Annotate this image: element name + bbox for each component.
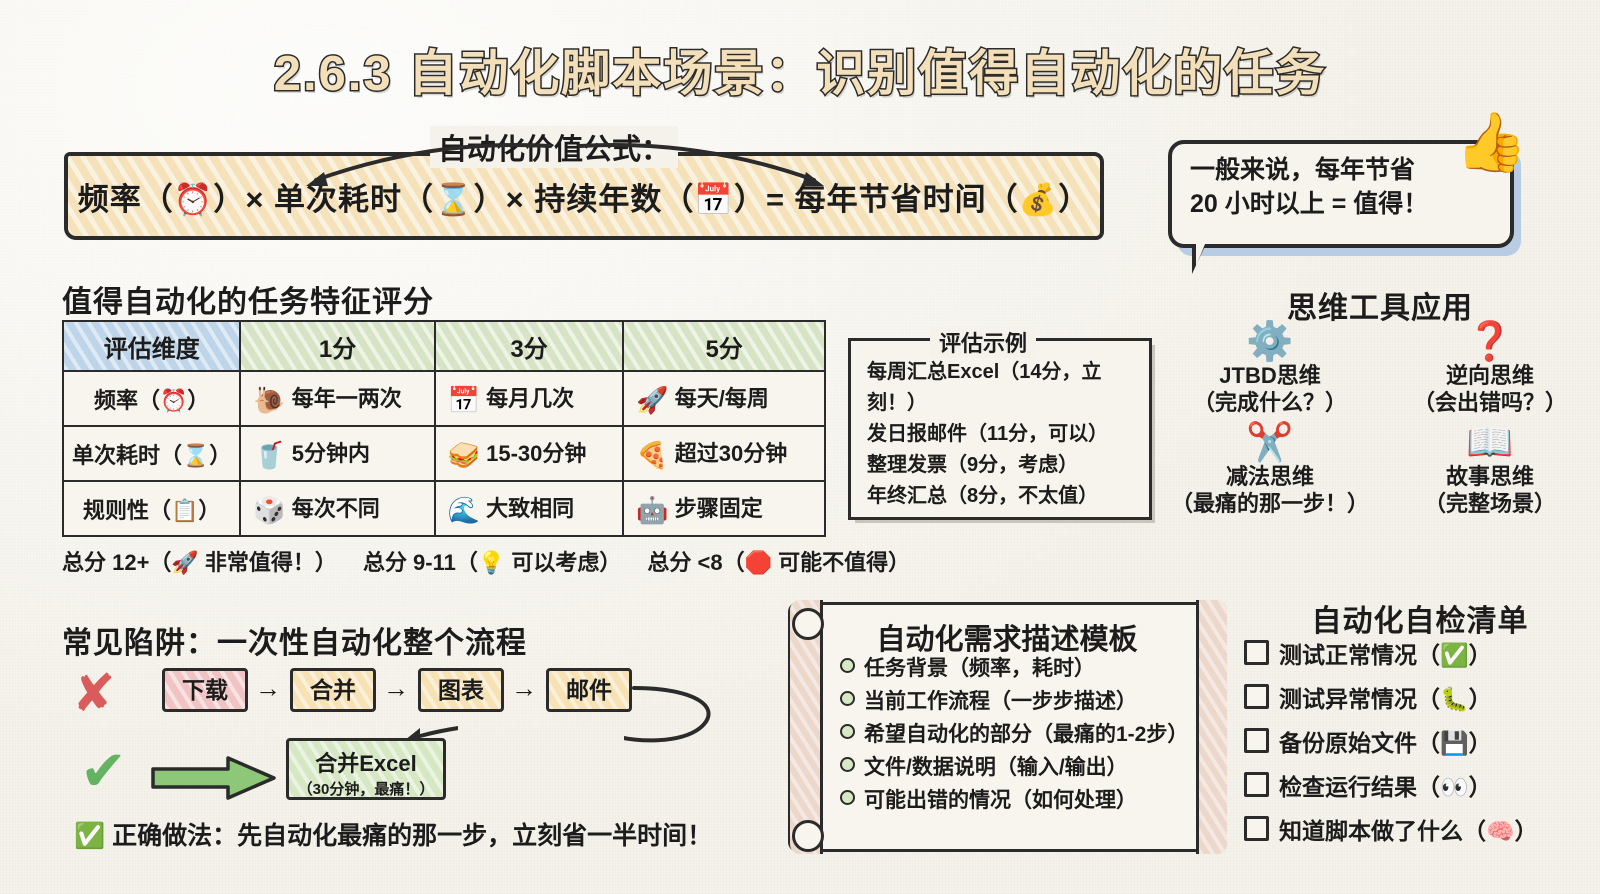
check-mark-icon: ✔ <box>80 738 127 804</box>
flow-arrow-icon: → <box>255 673 281 704</box>
checklist-item-label: 知道脚本做了什么（🧠） <box>1279 818 1538 844</box>
flow-step-merge: 合并 <box>290 668 376 712</box>
checklist-item[interactable]: 知道脚本做了什么（🧠） <box>1244 816 1600 843</box>
col-header-dimension: 评估维度 <box>63 321 240 371</box>
cell-regularity-3: 🌊大致相同 <box>435 481 624 536</box>
open-book-icon: 📖 <box>1380 423 1600 463</box>
cell-duration-3: 🥪15-30分钟 <box>435 426 624 481</box>
tool-sub: （会出错吗？） <box>1380 389 1600 417</box>
tool-name: 逆向思维 <box>1380 362 1600 390</box>
correct-approach-text: ✅ 正确做法：先自动化最痛的那一步，立刻省一半时间！ <box>74 816 712 852</box>
wave-icon: 🌊 <box>448 496 480 526</box>
cell-frequency-1: 🐌每年一两次 <box>240 371 434 426</box>
table-section-heading: 值得自动化的任务特征评分 <box>62 277 434 321</box>
tool-subtraction: ✂️ 减法思维 （最痛的那一步！） <box>1160 423 1380 518</box>
tool-jtbd: ⚙️ JTBD思维 （完成什么？） <box>1160 322 1380 417</box>
question-mark-icon: ❓ <box>1380 322 1600 362</box>
tool-sub: （完整场景） <box>1380 490 1600 518</box>
scroll-curl-bottom-left <box>792 820 824 852</box>
cup-icon: 🥤 <box>253 441 285 471</box>
checkbox-icon[interactable] <box>1244 684 1269 709</box>
tool-reverse: ❓ 逆向思维 （会出错吗？） <box>1380 322 1600 417</box>
list-item-label: 可能出错的情况（如何处理） <box>864 789 1137 812</box>
list-item-label: 当前工作流程（一步步描述） <box>864 690 1137 713</box>
checklist-item-label: 测试正常情况（✅） <box>1279 642 1492 668</box>
flow-arrow-icon: → <box>383 673 409 704</box>
cell-regularity-5: 🤖步骤固定 <box>623 481 825 536</box>
list-item: 希望自动化的部分（最痛的1-2步） <box>840 724 1230 745</box>
legend-item-low: 总分 <8（🛑 可能不值得） <box>647 550 910 575</box>
bullet-icon <box>840 691 855 706</box>
example-line: 年终汇总（8分，不太值） <box>867 481 1149 512</box>
list-item-label: 希望自动化的部分（最痛的1-2步） <box>864 723 1188 746</box>
cell-text: 大致相同 <box>486 496 574 521</box>
cell-text: 每次不同 <box>292 496 380 521</box>
evaluation-example-box: 每周汇总Excel（14分，立刻！） 发日报邮件（11分，可以） 整理发票（9分… <box>848 338 1152 520</box>
checkbox-icon[interactable] <box>1244 772 1269 797</box>
list-item: 任务背景（频率，耗时） <box>840 658 1230 679</box>
list-item: 当前工作流程（一步步描述） <box>840 691 1230 712</box>
row-dimension-frequency: 频率（⏰） <box>63 371 240 426</box>
example-line: 整理发票（9分，考虑） <box>867 450 1149 481</box>
scroll-title: 自动化需求描述模板 <box>788 616 1226 658</box>
green-arrow-icon <box>150 755 278 803</box>
self-check-list: 测试正常情况（✅） 测试异常情况（🐛） 备份原始文件（💾） 检查运行结果（👀） … <box>1244 640 1600 860</box>
list-item-label: 任务背景（频率，耗时） <box>864 657 1095 680</box>
table-header-row: 评估维度 1分 3分 5分 <box>63 321 825 371</box>
tool-sub: （完成什么？） <box>1160 389 1380 417</box>
cell-frequency-3: 📅每月几次 <box>435 371 624 426</box>
col-header-score-3: 3分 <box>435 321 624 371</box>
row-dimension-duration: 单次耗时（⌛） <box>63 426 240 481</box>
col-header-score-1: 1分 <box>240 321 434 371</box>
rocket-icon: 🚀 <box>636 386 668 416</box>
table-row: 单次耗时（⌛） 🥤5分钟内 🥪15-30分钟 🍕超过30分钟 <box>63 426 825 481</box>
checklist-item-label: 备份原始文件（💾） <box>1279 730 1492 756</box>
tip-line-2: 20 小时以上 = 值得！ <box>1190 188 1496 222</box>
cell-text: 15-30分钟 <box>486 441 586 466</box>
thinking-tools-heading: 思维工具应用 <box>1160 283 1600 327</box>
tool-name: JTBD思维 <box>1160 362 1380 390</box>
flow-arrow-icon: → <box>511 673 537 704</box>
page-title: 2.6.3 自动化脚本场景：识别值得自动化的任务 <box>0 34 1600 105</box>
bullet-icon <box>840 724 855 739</box>
scroll-item-list: 任务背景（频率，耗时） 当前工作流程（一步步描述） 希望自动化的部分（最痛的1-… <box>840 658 1230 823</box>
score-legend: 总分 12+（🚀 非常值得！）总分 9-11（💡 可以考虑）总分 <8（🛑 可能… <box>62 545 910 577</box>
speech-bubble-tail-fill <box>1196 244 1220 266</box>
checklist-item[interactable]: 测试异常情况（🐛） <box>1244 684 1600 711</box>
pitfall-heading: 常见陷阱：一次性自动化整个流程 <box>62 618 527 662</box>
checkbox-icon[interactable] <box>1244 640 1269 665</box>
thumbs-up-icon: 👍 <box>1455 108 1527 177</box>
cell-frequency-5: 🚀每天/每周 <box>623 371 825 426</box>
checkbox-icon[interactable] <box>1244 816 1269 841</box>
evaluation-example-title: 评估示例 <box>930 326 1036 358</box>
checklist-item-label: 测试异常情况（🐛） <box>1279 686 1492 712</box>
list-item: 可能出错的情况（如何处理） <box>840 790 1230 811</box>
dice-icon: 🎲 <box>253 496 285 526</box>
task-scoring-table: 评估维度 1分 3分 5分 频率（⏰） 🐌每年一两次 📅每月几次 🚀每天/每周 … <box>62 320 826 537</box>
formula-arrows <box>250 130 870 192</box>
tool-name: 减法思维 <box>1160 463 1380 491</box>
cell-text: 每月几次 <box>486 386 574 411</box>
checklist-item-label: 检查运行结果（👀） <box>1279 774 1492 800</box>
sandwich-icon: 🥪 <box>448 441 480 471</box>
pizza-icon: 🍕 <box>636 441 668 471</box>
cell-duration-5: 🍕超过30分钟 <box>623 426 825 481</box>
flow-step-email: 邮件 <box>546 668 632 712</box>
example-line: 每周汇总Excel（14分，立刻！） <box>867 357 1149 419</box>
calendar-icon: 📅 <box>448 386 480 416</box>
thinking-tools-grid: ⚙️ JTBD思维 （完成什么？） ❓ 逆向思维 （会出错吗？） ✂️ 减法思维… <box>1160 322 1600 518</box>
row-dimension-regularity: 规则性（📋） <box>63 481 240 536</box>
scissors-icon: ✂️ <box>1160 423 1380 463</box>
checklist-heading: 自动化自检清单 <box>1240 596 1600 640</box>
cross-mark-icon: ✘ <box>72 664 116 724</box>
loopback-arrow <box>624 684 754 756</box>
merge-box-title: 合并Excel <box>289 746 443 778</box>
robot-icon: 🤖 <box>636 496 668 526</box>
list-item-label: 文件/数据说明（输入/输出） <box>864 756 1128 779</box>
tool-sub: （最痛的那一步！） <box>1160 490 1380 518</box>
tool-story: 📖 故事思维 （完整场景） <box>1380 423 1600 518</box>
merge-box-sub: （30分钟，最痛！） <box>289 778 443 799</box>
snail-icon: 🐌 <box>253 386 285 416</box>
infographic-canvas: 2.6.3 自动化脚本场景：识别值得自动化的任务 频率（⏰）× 单次耗时（⌛）×… <box>0 0 1600 894</box>
bullet-icon <box>840 790 855 805</box>
cell-text: 每天/每周 <box>675 386 769 411</box>
example-line: 发日报邮件（11分，可以） <box>867 419 1149 450</box>
gears-icon: ⚙️ <box>1160 322 1380 362</box>
col-header-score-5: 5分 <box>623 321 825 371</box>
checklist-item[interactable]: 检查运行结果（👀） <box>1244 772 1600 799</box>
list-item: 文件/数据说明（输入/输出） <box>840 757 1230 778</box>
merge-excel-box: 合并Excel （30分钟，最痛！） <box>286 738 446 800</box>
table-row: 规则性（📋） 🎲每次不同 🌊大致相同 🤖步骤固定 <box>63 481 825 536</box>
bullet-icon <box>840 658 855 673</box>
table-row: 频率（⏰） 🐌每年一两次 📅每月几次 🚀每天/每周 <box>63 371 825 426</box>
cell-regularity-1: 🎲每次不同 <box>240 481 434 536</box>
legend-item-high: 总分 12+（🚀 非常值得！） <box>62 550 337 575</box>
flow-step-download: 下载 <box>162 668 248 712</box>
tool-name: 故事思维 <box>1380 463 1600 491</box>
checkbox-icon[interactable] <box>1244 728 1269 753</box>
cell-text: 5分钟内 <box>292 441 370 466</box>
cell-text: 步骤固定 <box>675 496 763 521</box>
checklist-item[interactable]: 测试正常情况（✅） <box>1244 640 1600 667</box>
checklist-item[interactable]: 备份原始文件（💾） <box>1244 728 1600 755</box>
cell-duration-1: 🥤5分钟内 <box>240 426 434 481</box>
cell-text: 超过30分钟 <box>675 441 787 466</box>
tip-line-1: 一般来说，每年节省 <box>1190 154 1496 188</box>
legend-item-mid: 总分 9-11（💡 可以考虑） <box>363 550 621 575</box>
cell-text: 每年一两次 <box>292 386 402 411</box>
bullet-icon <box>840 757 855 772</box>
